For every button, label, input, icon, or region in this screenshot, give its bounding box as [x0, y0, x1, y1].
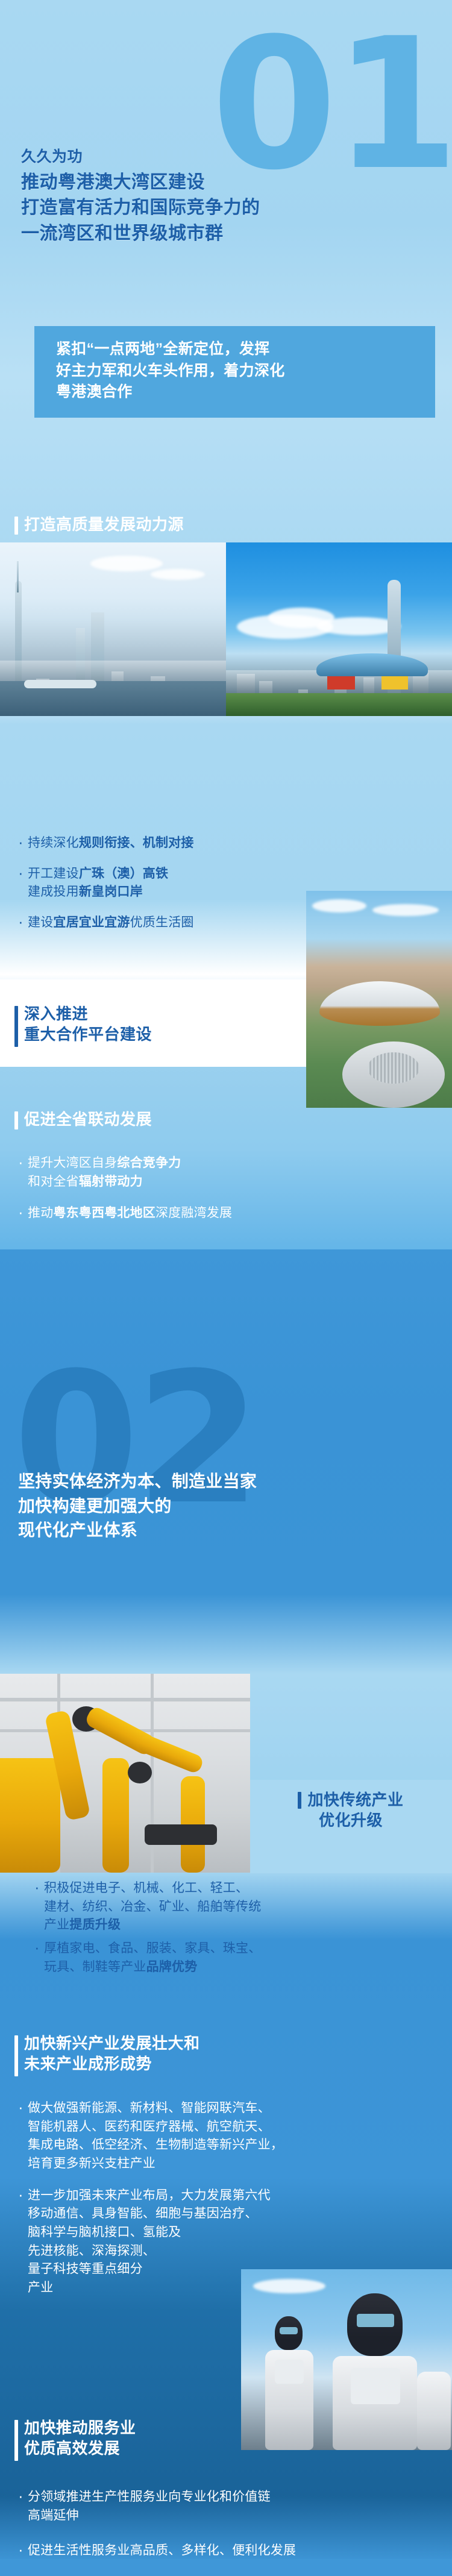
bullet-7-line2-bold: 品牌优势	[146, 1960, 198, 1974]
callout-line-3: 粤港澳合作	[56, 382, 419, 403]
bullet-4-line2-bold: 辐射带动力	[79, 1175, 143, 1189]
subheader-line-1: 深入推进	[24, 1004, 152, 1024]
bullet-list-provincial: 提升大湾区自身综合竞争力 和对全省辐射带动力 推动粤东粤西粤北地区深度融湾发展	[17, 1154, 439, 1236]
bullet-8-line3: 集成电路、低空经济、生物制造等新兴产业，	[28, 2136, 439, 2155]
accent-bar-icon	[14, 517, 18, 535]
subheader-line-2: 优化升级	[319, 1810, 383, 1830]
callout-line-1: 紧扣“一点两地”全新定位，发挥	[56, 339, 419, 360]
list-item: 开工建设广珠（澳）高铁 建成投用新皇岗口岸	[17, 865, 306, 902]
footer-band	[0, 2559, 452, 2576]
shenzhen-skyline-photo	[226, 542, 452, 716]
callout-line-2: 好主力军和火车头作用，着力深化	[56, 360, 419, 382]
list-item: 提升大湾区自身综合竞争力 和对全省辐射带动力	[17, 1154, 439, 1191]
title-line-4: 一流湾区和世界级城市群	[21, 221, 260, 247]
bullet-6-line1: 积极促进电子、机械、化工、轻工、	[44, 1879, 434, 1898]
bullet-6-line3-bold: 提质升级	[69, 1918, 121, 1932]
list-item: 做大做强新能源、新材料、智能网联汽车、 智能机器人、医药和医疗器械、航空航天、 …	[17, 2099, 439, 2173]
bullet-2-line2-bold: 新皇岗口岸	[79, 885, 143, 899]
accent-bar-icon	[14, 2420, 18, 2461]
bullet-8-line4: 培育更多新兴支柱产业	[28, 2155, 439, 2173]
subheader-emerging-industry: 加快新兴产业发展壮大和 未来产业成形成势	[14, 2033, 200, 2076]
section-02: 02 坚持实体经济为本、制造业当家 加快构建更加强大的 现代化产业体系	[0, 1249, 452, 2576]
bullet-2-line2-plain: 建成投用	[28, 885, 79, 899]
bullet-7-line1: 厚植家电、食品、服装、家具、珠宝、	[44, 1940, 434, 1958]
subheader-provincial-development: 促进全省联动发展	[14, 1109, 152, 1129]
subheader-line-1: 加快传统产业	[307, 1789, 403, 1810]
infographic-page: 01 久久为功 推动粤港澳大湾区建设 打造富有活力和国际竞争力的 一流湾区和世界…	[0, 0, 452, 2576]
bullet-5-bold: 粤东粤西粤北地区	[53, 1206, 155, 1220]
list-item: 分领域推进生产性服务业向专业化和价值链 高端延伸	[17, 2488, 439, 2525]
list-item: 厚植家电、食品、服装、家具、珠宝、 玩具、制鞋等产业品牌优势	[33, 1940, 434, 1976]
subheader-traditional-industry: 加快传统产业 优化升级	[260, 1789, 441, 1831]
bullet-10-line1: 分领域推进生产性服务业向专业化和价值链	[28, 2488, 439, 2507]
title-line-2: 推动粤港澳大湾区建设	[21, 170, 260, 196]
subheader-development-engine: 打造高质量发展动力源	[14, 514, 184, 535]
subheader-line-2: 未来产业成形成势	[24, 2053, 200, 2074]
humanoid-robots-photo	[241, 2269, 452, 2450]
bullet-6-line3-plain: 产业	[44, 1918, 69, 1932]
stadium-arena	[342, 1041, 445, 1108]
bullet-3-plain-b: 优质生活圈	[130, 916, 194, 929]
bullet-1-plain-a: 持续深化	[28, 836, 79, 850]
stadium-roof	[319, 981, 440, 1026]
bullet-5-plain-a: 推动	[28, 1206, 53, 1220]
guangzhou-skyline-photo	[0, 542, 226, 716]
subheader-line-1: 促进全省联动发展	[24, 1109, 152, 1129]
bullet-7-line2-plain: 玩具、制鞋等产业	[44, 1960, 146, 1974]
hengqin-stadium-photo	[306, 891, 452, 1108]
accent-bar-icon	[14, 2035, 18, 2076]
subheader-cooperation-platform: 深入推进 重大合作平台建设	[14, 1004, 152, 1047]
title-line-3: 打造富有活力和国际竞争力的	[21, 195, 260, 221]
bullet-list-bay-area: 持续深化规则衔接、机制对接 开工建设广珠（澳）高铁 建成投用新皇岗口岸 建设宜居…	[17, 834, 306, 944]
list-item: 积极促进电子、机械、化工、轻工、 建材、纺织、冶金、矿业、船舶等传统 产业提质升…	[33, 1879, 434, 1935]
bullet-4-line2-plain: 和对全省	[28, 1175, 79, 1189]
subheader-line-1: 打造高质量发展动力源	[24, 514, 184, 535]
accent-bar-icon	[14, 1111, 18, 1129]
bullet-11-line1: 促进生活性服务业高品质、多样化、便利化发展	[28, 2542, 439, 2560]
subheader-line-2: 优质高效发展	[24, 2438, 136, 2458]
bullet-8-line2: 智能机器人、医药和医疗器械、航空航天、	[28, 2118, 439, 2137]
section-02-title: 坚持实体经济为本、制造业当家 加快构建更加强大的 现代化产业体系	[18, 1469, 257, 1543]
accent-bar-icon	[298, 1792, 301, 1809]
bullet-3-bold: 宜居宜业宜游	[53, 916, 130, 929]
title-line-2: 加快构建更加强大的	[18, 1494, 257, 1519]
list-item: 促进生活性服务业高品质、多样化、便利化发展	[17, 2542, 439, 2560]
section-01-callout-box: 紧扣“一点两地”全新定位，发挥 好主力军和火车头作用，着力深化 粤港澳合作	[34, 326, 435, 418]
bullet-9-line3: 脑科学与脑机接口、氢能及	[28, 2223, 439, 2242]
accent-bar-icon	[14, 1006, 18, 1047]
bullet-1-bold: 规则衔接、机制对接	[79, 836, 194, 850]
list-item: 持续深化规则衔接、机制对接	[17, 834, 306, 853]
bullet-2-plain-a: 开工建设	[28, 867, 79, 881]
section-01: 01 久久为功 推动粤港澳大湾区建设 打造富有活力和国际竞争力的 一流湾区和世界…	[0, 0, 452, 1249]
bullet-10-line2: 高端延伸	[28, 2507, 439, 2525]
title-line-3: 现代化产业体系	[18, 1518, 257, 1543]
title-line-1: 久久为功	[21, 146, 260, 168]
bullet-4-bold: 综合竞争力	[117, 1156, 181, 1170]
list-item: 推动粤东粤西粤北地区深度融湾发展	[17, 1204, 439, 1223]
subheader-line-1: 加快新兴产业发展壮大和	[24, 2033, 200, 2053]
bullet-8-line1: 做大做强新能源、新材料、智能网联汽车、	[28, 2099, 439, 2118]
bullet-6-line2: 建材、纺织、冶金、矿业、船舶等传统	[44, 1898, 434, 1917]
bullet-5-plain-b: 深度融湾发展	[155, 1206, 232, 1220]
subheader-line-2: 重大合作平台建设	[24, 1024, 152, 1045]
bullet-9-line4: 先进核能、深海探测、	[28, 2242, 439, 2261]
subheader-line-1: 加快推动服务业	[24, 2417, 136, 2438]
bullet-9-line2: 移动通信、具身智能、细胞与基因治疗、	[28, 2205, 439, 2223]
bullet-2-bold: 广珠（澳）高铁	[79, 867, 168, 881]
subheader-service-industry: 加快推动服务业 优质高效发展	[14, 2417, 136, 2461]
bullet-list-traditional-industry: 积极促进电子、机械、化工、轻工、 建材、纺织、冶金、矿业、船舶等传统 产业提质升…	[33, 1879, 434, 1981]
bullet-4-plain-a: 提升大湾区自身	[28, 1156, 117, 1170]
bullet-9-line1: 进一步加强未来产业布局，大力发展第六代	[28, 2187, 439, 2205]
title-line-1: 坚持实体经济为本、制造业当家	[18, 1469, 257, 1494]
industrial-robot-arm-photo	[0, 1674, 250, 1873]
bullet-3-plain-a: 建设	[28, 916, 53, 929]
list-item: 建设宜居宜业宜游优质生活圈	[17, 914, 306, 932]
section-01-title: 久久为功 推动粤港澳大湾区建设 打造富有活力和国际竞争力的 一流湾区和世界级城市…	[21, 146, 260, 247]
city-photo-strip	[0, 542, 452, 716]
